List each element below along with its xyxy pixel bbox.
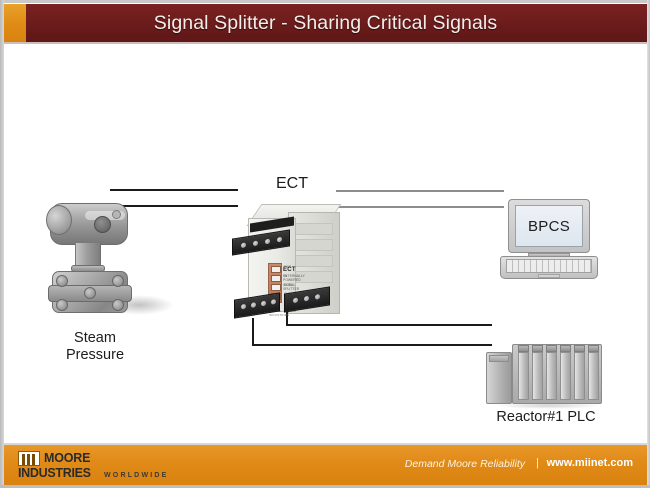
wire-transmitter-to-ect-upper bbox=[110, 189, 238, 191]
ect-status-led bbox=[271, 284, 281, 291]
ect-status-led bbox=[271, 275, 281, 282]
wire-ect-to-plc-b-horizontal bbox=[286, 324, 492, 326]
diagram-canvas: Steam Pressure ECT PWR IN OUT1 bbox=[4, 44, 647, 441]
plc-io-module bbox=[532, 352, 543, 400]
transmitter-bolt bbox=[56, 299, 68, 311]
laptop-lid: BPCS bbox=[508, 199, 590, 253]
logo-text-moore: MOORE bbox=[44, 451, 90, 465]
ect-side-vent bbox=[295, 223, 333, 235]
plc-io-module-top bbox=[518, 345, 529, 352]
plc-io-module bbox=[518, 352, 529, 400]
plc-io-module-top bbox=[588, 345, 599, 352]
plc-io-module bbox=[588, 352, 599, 400]
terminal-screw bbox=[241, 304, 246, 310]
transmitter-bolt bbox=[56, 275, 68, 287]
transmitter-center-bolt bbox=[84, 287, 96, 299]
ect-status-led bbox=[271, 266, 281, 273]
header-accent-stripe bbox=[4, 4, 26, 42]
ect-label: ECT bbox=[252, 175, 332, 192]
ect-signal-splitter-device: PWR IN OUT1 OUT2 ECT EXTERNALLY POWERED … bbox=[232, 204, 342, 322]
transmitter-conduit-port bbox=[94, 216, 111, 233]
plc-io-module-top bbox=[532, 345, 543, 352]
plc-io-module-top bbox=[560, 345, 571, 352]
footer-separator: | bbox=[536, 457, 539, 469]
plc-power-supply-top bbox=[489, 355, 509, 362]
plc-power-supply bbox=[486, 352, 512, 404]
title-bar: Signal Splitter - Sharing Critical Signa… bbox=[4, 4, 647, 42]
reactor-plc-icon bbox=[486, 344, 602, 406]
slide: Signal Splitter - Sharing Critical Signa… bbox=[0, 0, 650, 488]
wire-ect-to-plc-a-horizontal bbox=[252, 344, 492, 346]
wire-ect-to-plc-a-vertical bbox=[252, 318, 254, 346]
terminal-screw bbox=[251, 302, 256, 308]
frame-top-border bbox=[0, 0, 650, 3]
plc-label: Reactor#1 PLC bbox=[456, 409, 636, 426]
terminal-screw bbox=[253, 240, 258, 246]
bpcs-screen-label: BPCS bbox=[528, 218, 570, 235]
transmitter-bolt bbox=[112, 299, 124, 311]
terminal-screw bbox=[241, 242, 246, 248]
logo-text-worldwide: WORLDWIDE bbox=[104, 471, 169, 480]
bpcs-laptop-icon: BPCS bbox=[500, 199, 598, 289]
terminal-screw bbox=[277, 237, 282, 243]
ect-side-vent bbox=[295, 239, 333, 251]
terminal-screw bbox=[315, 294, 320, 300]
plc-io-module-top bbox=[574, 345, 585, 352]
plc-io-module bbox=[560, 352, 571, 400]
plc-io-module bbox=[574, 352, 585, 400]
footer-tagline: Demand Moore Reliability bbox=[405, 458, 525, 470]
plc-io-module bbox=[546, 352, 557, 400]
ect-model-text: ECT bbox=[283, 267, 296, 273]
footer-bar: MOORE INDUSTRIES WORLDWIDE Demand Moore … bbox=[4, 445, 647, 485]
ect-side-vent bbox=[295, 255, 333, 267]
wire-ect-to-bpcs-lower bbox=[336, 206, 504, 208]
transmitter-label: Steam Pressure bbox=[32, 330, 158, 364]
ect-model-subtext: EXTERNALLY POWERED SIGNAL SPLITTER bbox=[283, 274, 307, 292]
transmitter-bolt bbox=[112, 275, 124, 287]
laptop-screen: BPCS bbox=[515, 205, 583, 247]
logo-mark-icon bbox=[18, 451, 40, 466]
laptop-touchpad bbox=[538, 274, 560, 278]
transmitter-end-cap bbox=[46, 205, 72, 235]
terminal-screw bbox=[304, 296, 309, 302]
terminal-screw bbox=[271, 299, 276, 305]
terminal-screw bbox=[265, 239, 270, 245]
steam-pressure-transmitter-icon bbox=[42, 199, 150, 319]
moore-industries-logo: MOORE INDUSTRIES WORLDWIDE bbox=[18, 451, 168, 481]
plc-io-module-top bbox=[546, 345, 557, 352]
laptop-keyboard bbox=[506, 259, 592, 273]
terminal-screw bbox=[293, 297, 298, 303]
transmitter-vent-port bbox=[112, 210, 121, 219]
logo-text-industries: INDUSTRIES bbox=[18, 466, 91, 480]
page-title: Signal Splitter - Sharing Critical Signa… bbox=[154, 12, 497, 35]
terminal-screw bbox=[261, 301, 266, 307]
footer-url-link[interactable]: www.miinet.com bbox=[547, 457, 633, 469]
wire-ect-to-bpcs-upper bbox=[336, 190, 504, 192]
